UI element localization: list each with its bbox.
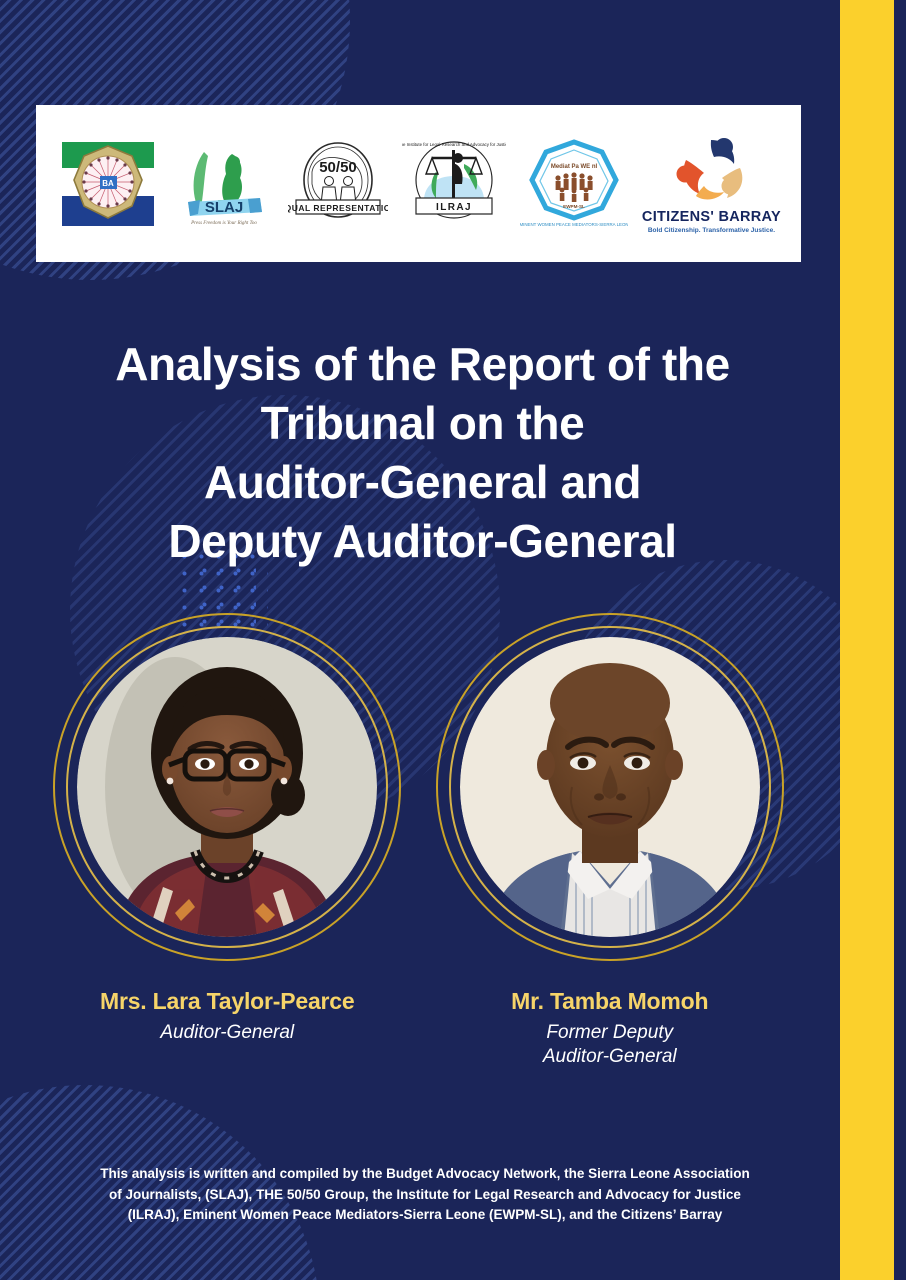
title-line-1: Analysis of the Report of the [50, 335, 795, 394]
person-role-line-1: Former Deputy [436, 1021, 784, 1045]
photo-woman-glasses [77, 637, 377, 937]
document-cover-page: BA SLAJ Press Freedom is Your Right Too [0, 0, 906, 1280]
svg-text:50/50: 50/50 [319, 159, 357, 176]
page-right-edge [894, 0, 906, 1280]
portrait-captions: Mrs. Lara Taylor-Pearce Auditor-General … [36, 988, 801, 1068]
ewpm-sl-logo: Mediat Pa WE nI EWPM-SL EMINENT WOMEN PE… [520, 134, 628, 234]
portrait-ring-inner [66, 626, 388, 948]
person-name: Mrs. Lara Taylor-Pearce [53, 988, 401, 1015]
footer-line-1: This analysis is written and compiled by… [60, 1164, 790, 1185]
slaj-logo-icon: SLAJ Press Freedom is Your Right Too [174, 138, 274, 230]
slaj-logo: SLAJ Press Freedom is Your Right Too [174, 134, 274, 234]
title-line-2: Tribunal on the [50, 394, 795, 453]
person-role-line-1: Auditor-General [53, 1021, 401, 1045]
portrait-ring-outer [436, 613, 784, 961]
portrait-row [36, 612, 801, 972]
avatar [460, 637, 760, 937]
budget-advocacy-network-logo: BA [56, 134, 160, 234]
svg-text:Press Freedom is Your Right To: Press Freedom is Your Right Too [190, 221, 257, 226]
citizens-barray-wordmark: CITIZENS' BARRAY [642, 209, 781, 225]
ilraj-logo-icon: ILRAJ The Institute for Legal Research a… [402, 138, 506, 230]
title-line-3: Auditor-General and [50, 453, 795, 512]
ilraj-logo: ILRAJ The Institute for Legal Research a… [402, 134, 506, 234]
svg-text:SLAJ: SLAJ [205, 199, 243, 216]
title-line-4: Deputy Auditor-General [50, 512, 795, 571]
svg-text:EQUAL REPRESENTATION: EQUAL REPRESENTATION [288, 203, 388, 213]
person-name: Mr. Tamba Momoh [436, 988, 784, 1015]
photo-man-suit [460, 637, 760, 937]
footer-line-3: (ILRAJ), Eminent Women Peace Mediators-S… [60, 1205, 790, 1226]
gold-accent-bar [840, 0, 894, 1280]
fifty-fifty-group-logo: 50/50 EQUAL REPRESENTATION [288, 134, 388, 234]
ban-logo-icon: BA [56, 138, 160, 230]
avatar [77, 637, 377, 937]
ewpm-sl-logo-icon: Mediat Pa WE nI EWPM-SL EMINENT WOMEN PE… [520, 138, 628, 230]
caption-lara-taylor-pearce: Mrs. Lara Taylor-Pearce Auditor-General [53, 988, 401, 1068]
fifty-fifty-logo-icon: 50/50 EQUAL REPRESENTATION [288, 138, 388, 230]
citizens-barray-logo: CITIZENS' BARRAY Bold Citizenship. Trans… [642, 134, 781, 234]
page-title: Analysis of the Report of the Tribunal o… [50, 335, 795, 571]
person-role: Auditor-General [53, 1021, 401, 1045]
portrait-ring-inner [449, 626, 771, 948]
citizens-barray-logo-icon [656, 134, 766, 206]
person-role-line-2: Auditor-General [436, 1045, 784, 1069]
partner-logo-band: BA SLAJ Press Freedom is Your Right Too [36, 105, 801, 262]
footer-credit: This analysis is written and compiled by… [60, 1164, 790, 1226]
svg-text:EMINENT WOMEN PEACE MEDIATORS-: EMINENT WOMEN PEACE MEDIATORS-SIERRA LEO… [520, 222, 628, 227]
svg-text:EWPM-SL: EWPM-SL [563, 204, 585, 209]
svg-text:The Institute for Legal Resear: The Institute for Legal Research and Adv… [402, 142, 506, 147]
svg-text:BA: BA [102, 179, 114, 188]
person-role: Former Deputy Auditor-General [436, 1021, 784, 1068]
portrait-tamba-momoh [436, 612, 784, 962]
citizens-barray-tagline: Bold Citizenship. Transformative Justice… [648, 227, 775, 234]
svg-text:ILRAJ: ILRAJ [436, 202, 472, 213]
svg-text:Mediat Pa WE nI: Mediat Pa WE nI [551, 164, 598, 170]
portrait-ring-outer [53, 613, 401, 961]
portrait-lara-taylor-pearce [53, 612, 401, 962]
caption-tamba-momoh: Mr. Tamba Momoh Former Deputy Auditor-Ge… [436, 988, 784, 1068]
footer-line-2: of Journalists, (SLAJ), THE 50/50 Group,… [60, 1185, 790, 1206]
